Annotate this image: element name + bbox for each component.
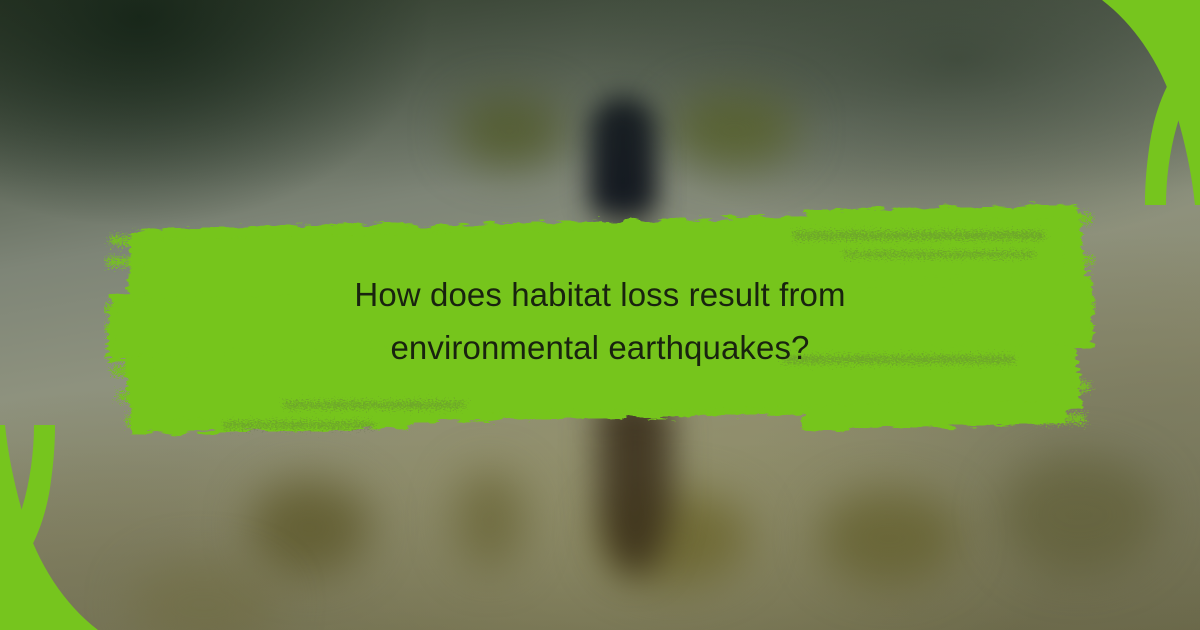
social-card: How does habitat loss result from enviro…	[0, 0, 1200, 630]
page-title: How does habitat loss result from enviro…	[150, 268, 1050, 375]
